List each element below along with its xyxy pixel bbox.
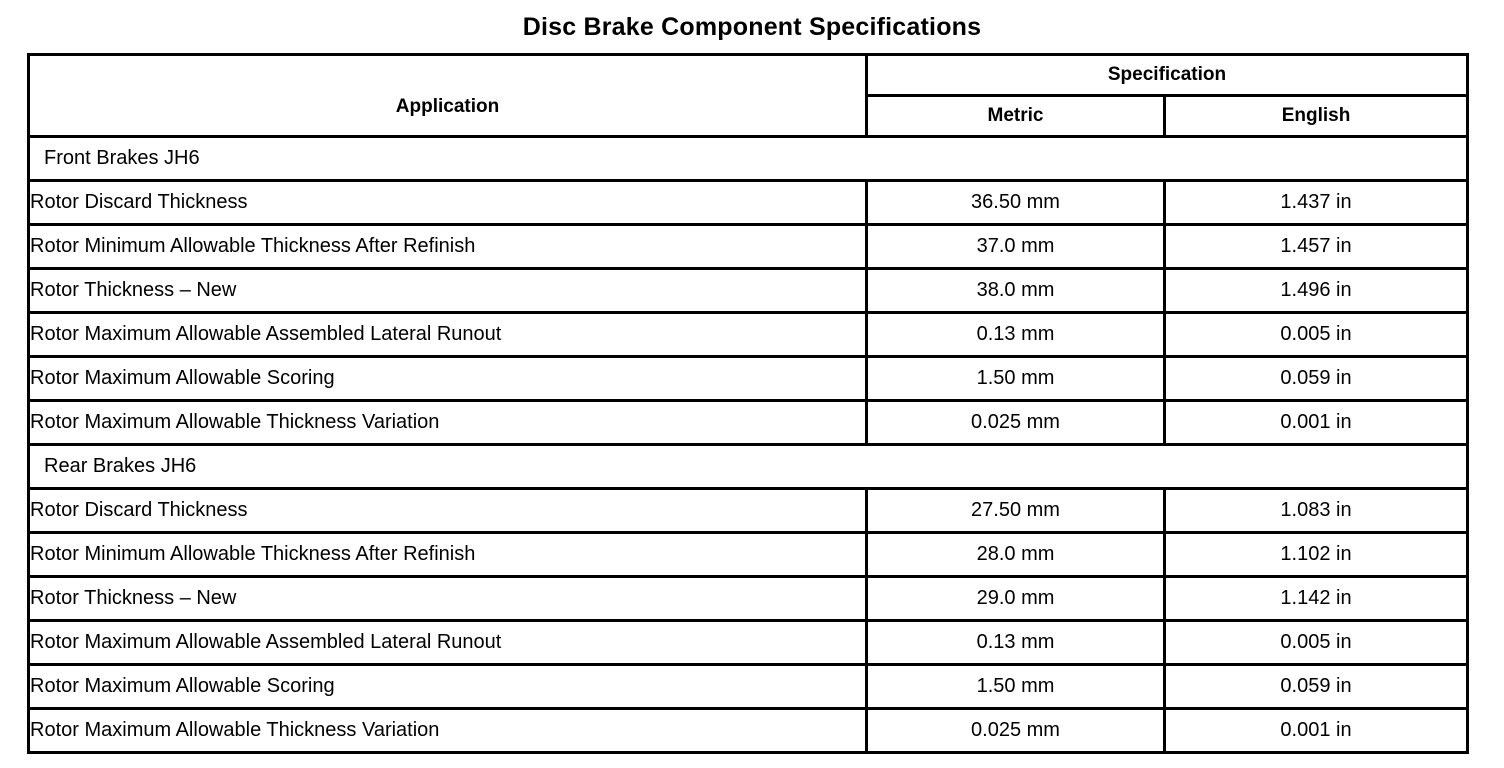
cell-english: 0.059 in — [1165, 665, 1468, 709]
table-row: Rotor Maximum Allowable Scoring 1.50 mm … — [29, 357, 1468, 401]
cell-application: Rotor Discard Thickness — [29, 489, 867, 533]
table-row: Rotor Minimum Allowable Thickness After … — [29, 225, 1468, 269]
cell-english: 0.005 in — [1165, 313, 1468, 357]
cell-metric: 27.50 mm — [867, 489, 1165, 533]
cell-metric: 36.50 mm — [867, 181, 1165, 225]
cell-application: Rotor Discard Thickness — [29, 181, 867, 225]
table-header: Application Specification Metric English — [29, 55, 1468, 137]
table-body: Front Brakes JH6 Rotor Discard Thickness… — [29, 137, 1468, 753]
column-header-application: Application — [29, 55, 867, 137]
document-page: Disc Brake Component Specifications Appl… — [0, 0, 1504, 768]
cell-metric: 1.50 mm — [867, 357, 1165, 401]
table-row: Rotor Maximum Allowable Thickness Variat… — [29, 401, 1468, 445]
table-row: Rotor Maximum Allowable Assembled Latera… — [29, 621, 1468, 665]
page-title: Disc Brake Component Specifications — [0, 12, 1504, 42]
cell-metric: 0.025 mm — [867, 401, 1165, 445]
cell-metric: 28.0 mm — [867, 533, 1165, 577]
column-header-specification: Specification — [867, 55, 1468, 96]
cell-metric: 1.50 mm — [867, 665, 1165, 709]
cell-english: 0.005 in — [1165, 621, 1468, 665]
cell-application: Rotor Maximum Allowable Assembled Latera… — [29, 621, 867, 665]
cell-english: 1.102 in — [1165, 533, 1468, 577]
cell-application: Rotor Maximum Allowable Assembled Latera… — [29, 313, 867, 357]
cell-metric: 0.13 mm — [867, 313, 1165, 357]
cell-application: Rotor Maximum Allowable Thickness Variat… — [29, 401, 867, 445]
column-header-metric: Metric — [867, 96, 1165, 137]
cell-english: 1.496 in — [1165, 269, 1468, 313]
cell-english: 1.083 in — [1165, 489, 1468, 533]
cell-metric: 0.025 mm — [867, 709, 1165, 753]
cell-application: Rotor Thickness – New — [29, 269, 867, 313]
table-row: Rotor Thickness – New 29.0 mm 1.142 in — [29, 577, 1468, 621]
section-header-label: Rear Brakes JH6 — [29, 445, 1468, 489]
table-row: Rotor Minimum Allowable Thickness After … — [29, 533, 1468, 577]
cell-metric: 37.0 mm — [867, 225, 1165, 269]
cell-application: Rotor Minimum Allowable Thickness After … — [29, 225, 867, 269]
column-header-application-label: Application — [30, 74, 865, 118]
table-row: Rotor Discard Thickness 27.50 mm 1.083 i… — [29, 489, 1468, 533]
table-row: Rotor Maximum Allowable Assembled Latera… — [29, 313, 1468, 357]
cell-metric: 29.0 mm — [867, 577, 1165, 621]
cell-application: Rotor Maximum Allowable Scoring — [29, 665, 867, 709]
table-row: Rotor Maximum Allowable Thickness Variat… — [29, 709, 1468, 753]
cell-english: 1.457 in — [1165, 225, 1468, 269]
table-row: Rotor Thickness – New 38.0 mm 1.496 in — [29, 269, 1468, 313]
cell-english: 0.059 in — [1165, 357, 1468, 401]
cell-english: 1.437 in — [1165, 181, 1468, 225]
section-header-row: Front Brakes JH6 — [29, 137, 1468, 181]
cell-english: 0.001 in — [1165, 709, 1468, 753]
cell-metric: 38.0 mm — [867, 269, 1165, 313]
disc-brake-specification-table: Application Specification Metric English… — [27, 53, 1469, 754]
column-header-english: English — [1165, 96, 1468, 137]
table-row: Rotor Maximum Allowable Scoring 1.50 mm … — [29, 665, 1468, 709]
table-row: Rotor Discard Thickness 36.50 mm 1.437 i… — [29, 181, 1468, 225]
section-header-row: Rear Brakes JH6 — [29, 445, 1468, 489]
cell-english: 1.142 in — [1165, 577, 1468, 621]
cell-english: 0.001 in — [1165, 401, 1468, 445]
table-header-row-top: Application Specification — [29, 55, 1468, 96]
cell-metric: 0.13 mm — [867, 621, 1165, 665]
cell-application: Rotor Minimum Allowable Thickness After … — [29, 533, 867, 577]
cell-application: Rotor Maximum Allowable Scoring — [29, 357, 867, 401]
cell-application: Rotor Thickness – New — [29, 577, 867, 621]
section-header-label: Front Brakes JH6 — [29, 137, 1468, 181]
cell-application: Rotor Maximum Allowable Thickness Variat… — [29, 709, 867, 753]
